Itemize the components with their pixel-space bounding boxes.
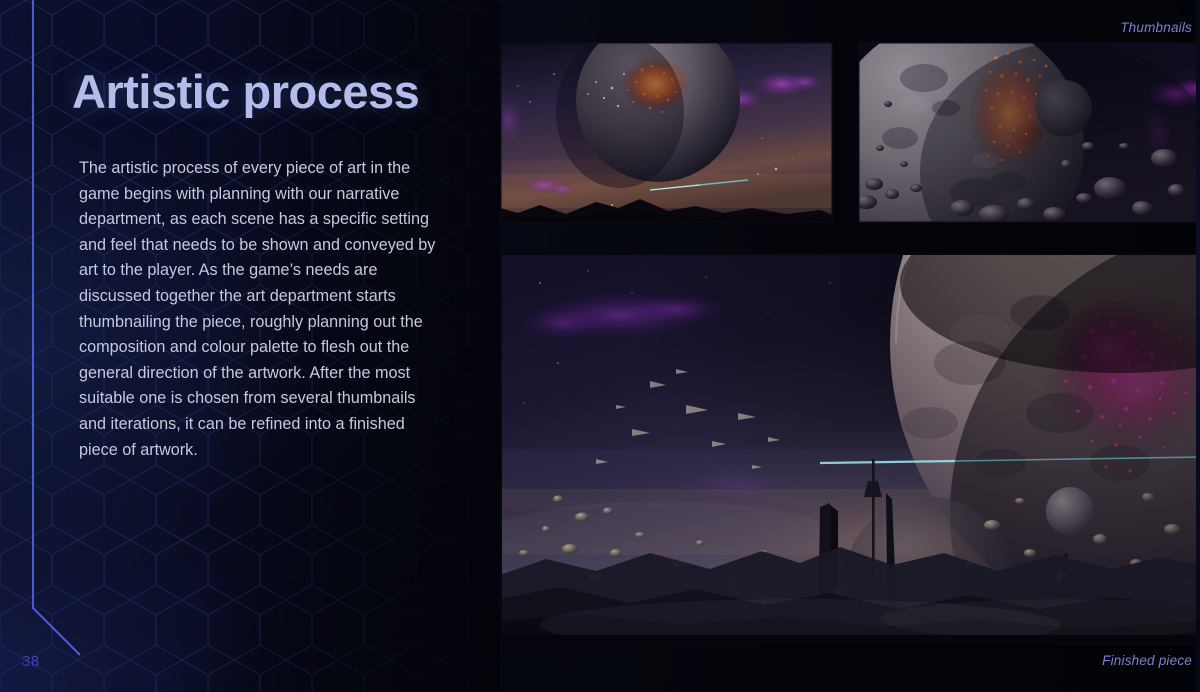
finished-artwork — [500, 253, 1200, 645]
thumbnail-2-artwork — [858, 42, 1200, 223]
body-paragraph: The artistic process of every piece of a… — [79, 156, 439, 463]
page-title: Artistic process — [72, 64, 419, 119]
thumbnail-image-2[interactable] — [858, 42, 1200, 223]
finished-artwork-image[interactable] — [500, 253, 1200, 645]
thumbnail-1-artwork — [500, 42, 833, 223]
thumbnail-image-1[interactable] — [500, 42, 833, 223]
thumbnails-caption: Thumbnails — [1120, 20, 1192, 35]
finished-piece-caption: Finished piece — [1102, 653, 1192, 668]
page-number: 38 — [22, 653, 40, 670]
slide-canvas: Artistic process The artistic process of… — [0, 0, 1200, 692]
